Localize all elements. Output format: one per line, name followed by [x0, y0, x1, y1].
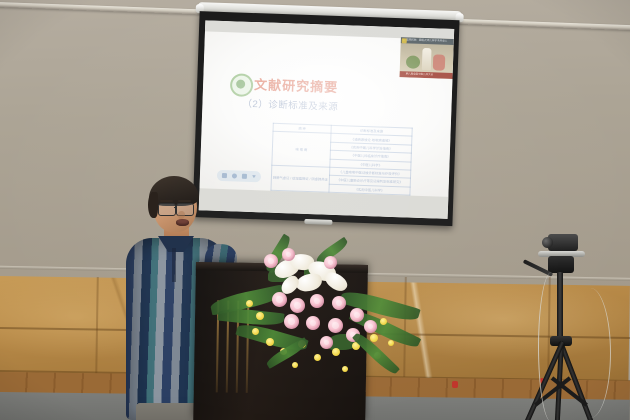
camera-lens-icon: [542, 237, 553, 248]
slide-title: 文献研究摘要: [254, 74, 339, 96]
table-category-cell: 肺脾气虚证 / 痰湿蕴肺证 / 阴虚肺热证: [271, 165, 330, 192]
speaker-mouth: [176, 219, 189, 226]
pink-rose: [264, 254, 278, 268]
chevron-down-icon[interactable]: [252, 175, 256, 178]
floor-marker: [452, 381, 458, 388]
speaker-sideburn: [148, 192, 158, 218]
inset-plant: [406, 55, 420, 68]
floral-arrangement: [228, 244, 428, 390]
inset-speaker-figure: [422, 48, 432, 70]
slide-table: 病 种诊断标准及来源咳 嗽 病《诸病源候论·咳嗽病诸候》《实用中医儿科学诊治指南…: [270, 123, 412, 196]
glasses-bridge: [174, 207, 177, 208]
yellow-orchid: [342, 366, 348, 372]
yellow-orchid: [314, 354, 321, 361]
pink-rose: [328, 318, 343, 333]
institution-emblem-icon: [230, 73, 254, 97]
pink-rose: [284, 314, 299, 329]
pink-rose: [350, 308, 364, 322]
yellow-orchid: [380, 318, 387, 325]
camera-cable: [570, 288, 611, 418]
pink-rose: [290, 298, 305, 313]
pink-rose: [306, 316, 320, 330]
yellow-orchid: [292, 362, 298, 368]
pink-rose: [332, 296, 346, 310]
tripod-fluid-head: [548, 256, 574, 273]
yellow-orchid: [388, 340, 394, 346]
yellow-orchid: [246, 300, 253, 307]
palm-frond: [217, 307, 284, 328]
camera-cable: [538, 272, 565, 420]
yellow-orchid: [266, 338, 274, 346]
inset-banner: 直播回放：国医大师儿科学术传承人: [401, 37, 454, 45]
photograph-scene: 文献研究摘要 （2）诊断标准及来源 病 种诊断标准及来源咳 嗽 病《诸病源候论·…: [0, 0, 630, 420]
slide-subtitle: （2）诊断标准及来源: [242, 96, 338, 113]
camera-tripod-rig: [512, 228, 616, 418]
inset-footer-tag-icon: [401, 38, 406, 43]
table-category-cell: 咳 嗽 病: [272, 132, 331, 168]
yellow-orchid: [332, 348, 340, 356]
pink-rose: [320, 336, 333, 349]
screen-bottom-bar: [304, 219, 332, 225]
speaker-placket: [172, 248, 176, 282]
pink-rose: [364, 320, 377, 333]
pink-rose: [272, 292, 287, 307]
glasses-icon: [158, 203, 176, 216]
slide-inset-video: 直播回放：国医大师儿科学术传承人 第八届全国中医儿科大会: [400, 37, 454, 79]
yellow-orchid: [256, 312, 264, 320]
yellow-orchid: [252, 328, 259, 335]
inset-side-figure: [433, 54, 446, 70]
inset-footer: 第八届全国中医儿科大会: [400, 71, 453, 79]
emblem-center: [236, 79, 245, 88]
pink-rose: [324, 256, 337, 269]
pink-rose: [282, 248, 295, 261]
pink-rose: [310, 294, 324, 308]
